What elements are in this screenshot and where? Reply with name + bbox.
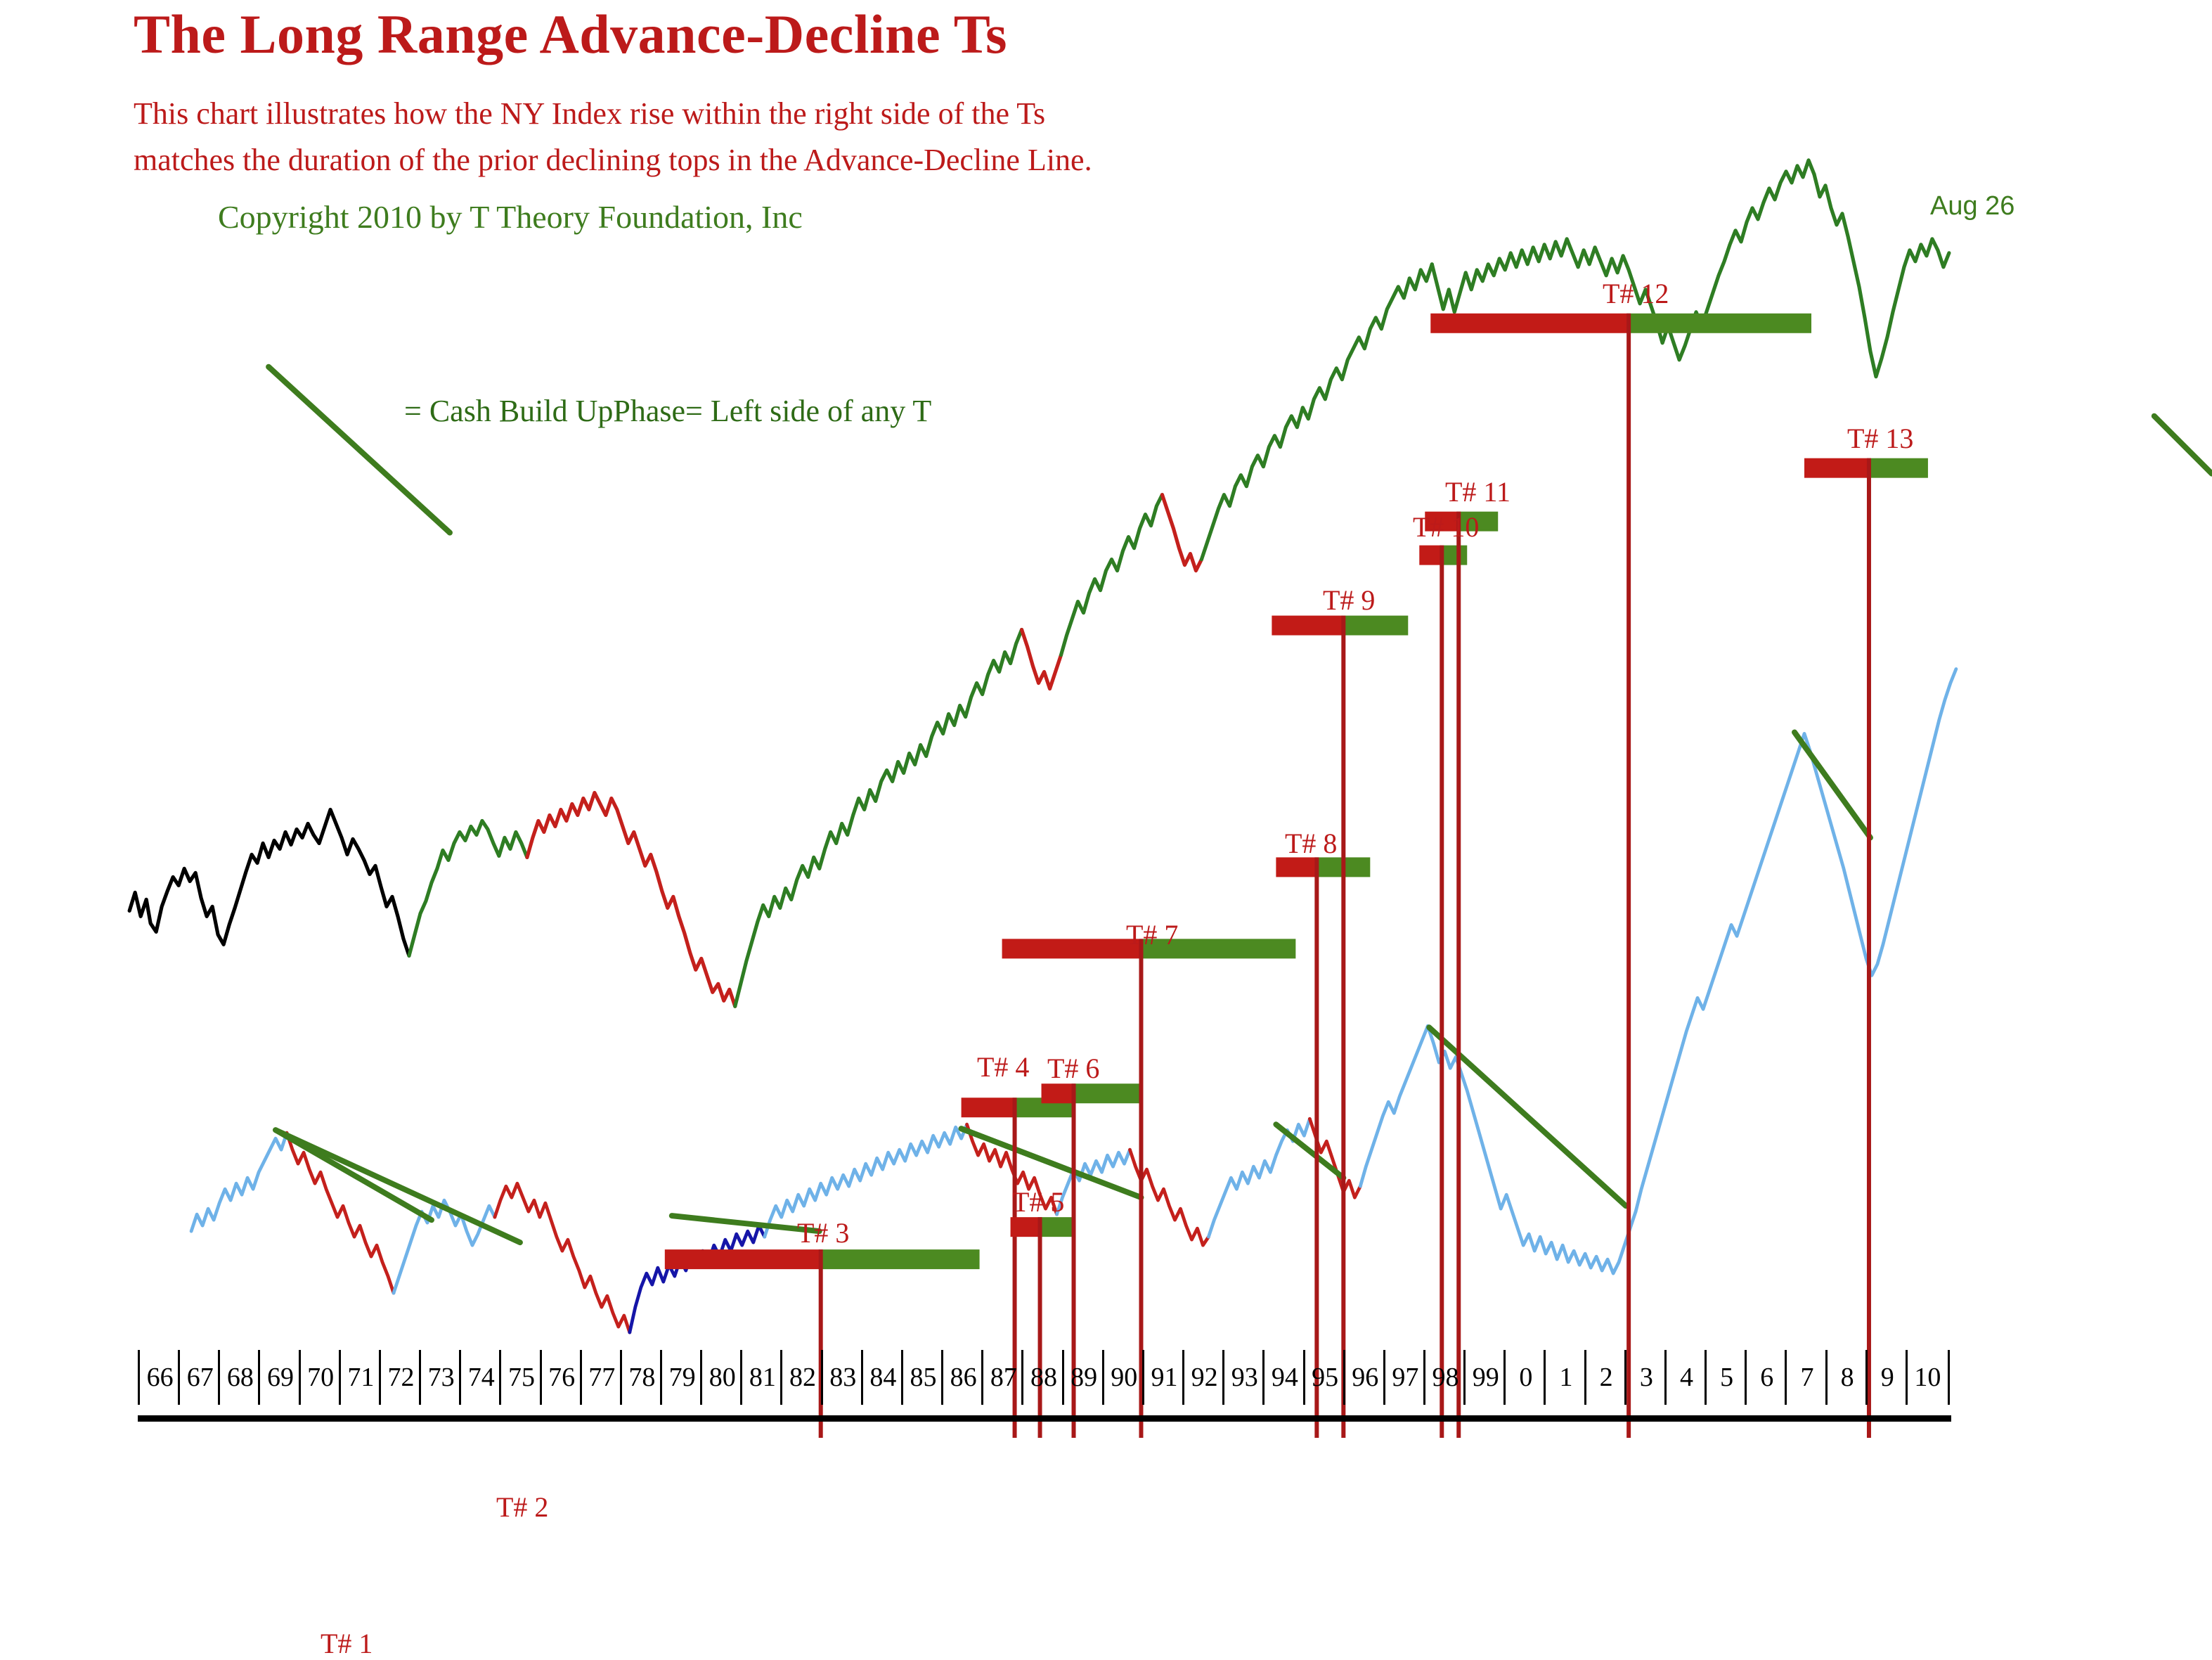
year-tick-89: 89 [1062,1350,1104,1405]
ad-segment-darkblue-1 [630,1225,765,1332]
ad-segment-lightblue-3 [765,1124,967,1237]
tbar-red-13 [1804,458,1869,478]
tbar-red-7 [1002,939,1141,958]
trendline-4 [1276,1124,1343,1178]
year-tick-0: 0 [1503,1350,1546,1405]
year-tick-71: 71 [339,1350,381,1405]
year-tick-96: 96 [1343,1350,1385,1405]
year-tick-6: 6 [1745,1350,1787,1405]
year-tick-82: 82 [780,1350,822,1405]
ny-index-segment-red-1 [527,792,735,1006]
year-tick-91: 91 [1142,1350,1184,1405]
year-tick-76: 76 [540,1350,582,1405]
tbar-green-12 [1629,314,1811,333]
trendline-6 [1794,732,1870,837]
chart-plot-area [0,0,2212,1438]
year-tick-97: 97 [1383,1350,1425,1405]
ad-segment-red-2 [495,1183,630,1332]
ny-index-segment-red-2 [1022,630,1061,689]
year-tick-90: 90 [1102,1350,1144,1405]
t-marker-group [280,314,1928,1438]
year-tick-3: 3 [1624,1350,1667,1405]
tbar-green-13 [1869,458,1928,478]
t-label-11: T# 11 [1445,475,1511,508]
year-tick-85: 85 [901,1350,943,1405]
edge-diagonal-fragment [2154,416,2212,474]
tbar-green-3 [821,1249,980,1269]
year-tick-68: 68 [218,1350,260,1405]
year-tick-5: 5 [1705,1350,1747,1405]
t-label-13: T# 13 [1847,422,1913,455]
year-tick-77: 77 [580,1350,622,1405]
year-axis: 6667686970717273747576777879808182838485… [138,1350,1946,1420]
tbar-green-10 [1442,546,1467,565]
year-tick-73: 73 [419,1350,461,1405]
ad-segment-lightblue-9 [1804,669,1956,976]
t-label-8: T# 8 [1285,827,1337,860]
ad-segment-lightblue-6 [1360,1026,1428,1186]
ad-segment-lightblue-8 [1636,733,1804,1211]
tbar-red-6 [1042,1083,1074,1103]
year-tick-2: 2 [1584,1350,1626,1405]
tbar-red-10 [1419,546,1442,565]
year-tick-72: 72 [379,1350,421,1405]
ny-index-segment-red-3 [1162,495,1201,571]
tbar-red-8 [1276,857,1317,877]
axis-baseline [138,1415,1951,1422]
t-label-5: T# 5 [1012,1185,1064,1218]
year-tick-78: 78 [620,1350,662,1405]
year-tick-69: 69 [258,1350,300,1405]
year-tick-88: 88 [1021,1350,1063,1405]
year-tick-1: 1 [1544,1350,1586,1405]
ny-index-segment-green-3 [1061,495,1163,655]
ny-index-segment-black [129,809,409,956]
year-tick-10: 10 [1906,1350,1950,1405]
tbar-red-5 [1011,1217,1040,1237]
year-tick-7: 7 [1785,1350,1827,1405]
ny-index-line [129,160,1949,1006]
year-tick-4: 4 [1664,1350,1707,1405]
year-tick-95: 95 [1303,1350,1345,1405]
t-label-1: T# 1 [321,1627,373,1660]
year-tick-84: 84 [861,1350,903,1405]
t-label-4: T# 4 [977,1050,1029,1083]
ad-segment-lightblue-2 [394,1200,495,1293]
ny-index-segment-green-6 [1814,174,1949,377]
year-tick-86: 86 [941,1350,983,1405]
trendline-1b [276,1130,520,1242]
legend-sample-line [269,367,450,533]
year-tick-67: 67 [178,1350,220,1405]
year-tick-83: 83 [821,1350,863,1405]
year-tick-94: 94 [1262,1350,1305,1405]
year-tick-93: 93 [1222,1350,1265,1405]
year-tick-79: 79 [660,1350,702,1405]
ny-index-segment-green-1 [409,821,527,956]
year-tick-99: 99 [1463,1350,1506,1405]
t-label-7: T# 7 [1126,918,1178,951]
tbar-green-9 [1343,616,1408,636]
t-label-6: T# 6 [1047,1052,1099,1085]
t-label-9: T# 9 [1323,584,1375,617]
tbar-green-5 [1040,1217,1073,1237]
ad-segment-lightblue-1 [191,1133,287,1231]
year-tick-9: 9 [1865,1350,1908,1405]
year-tick-80: 80 [700,1350,742,1405]
t-label-10: T# 10 [1413,510,1479,543]
t-label-3: T# 3 [797,1216,849,1249]
year-tick-98: 98 [1423,1350,1466,1405]
tbar-green-6 [1074,1083,1141,1103]
year-tick-66: 66 [138,1350,180,1405]
tbar-red-9 [1272,616,1343,636]
year-tick-8: 8 [1825,1350,1868,1405]
year-tick-87: 87 [981,1350,1023,1405]
t-label-2: T# 2 [496,1491,548,1524]
t-label-12: T# 12 [1603,277,1669,310]
year-tick-92: 92 [1182,1350,1224,1405]
tbar-red-3 [665,1249,821,1269]
year-tick-70: 70 [299,1350,341,1405]
ny-index-segment-green-2 [735,630,1022,1007]
year-tick-75: 75 [499,1350,541,1405]
year-tick-74: 74 [459,1350,501,1405]
tbar-red-12 [1430,314,1629,333]
year-tick-81: 81 [740,1350,782,1405]
ny-index-segment-green-4 [1201,264,1432,560]
tbar-red-4 [962,1098,1015,1117]
